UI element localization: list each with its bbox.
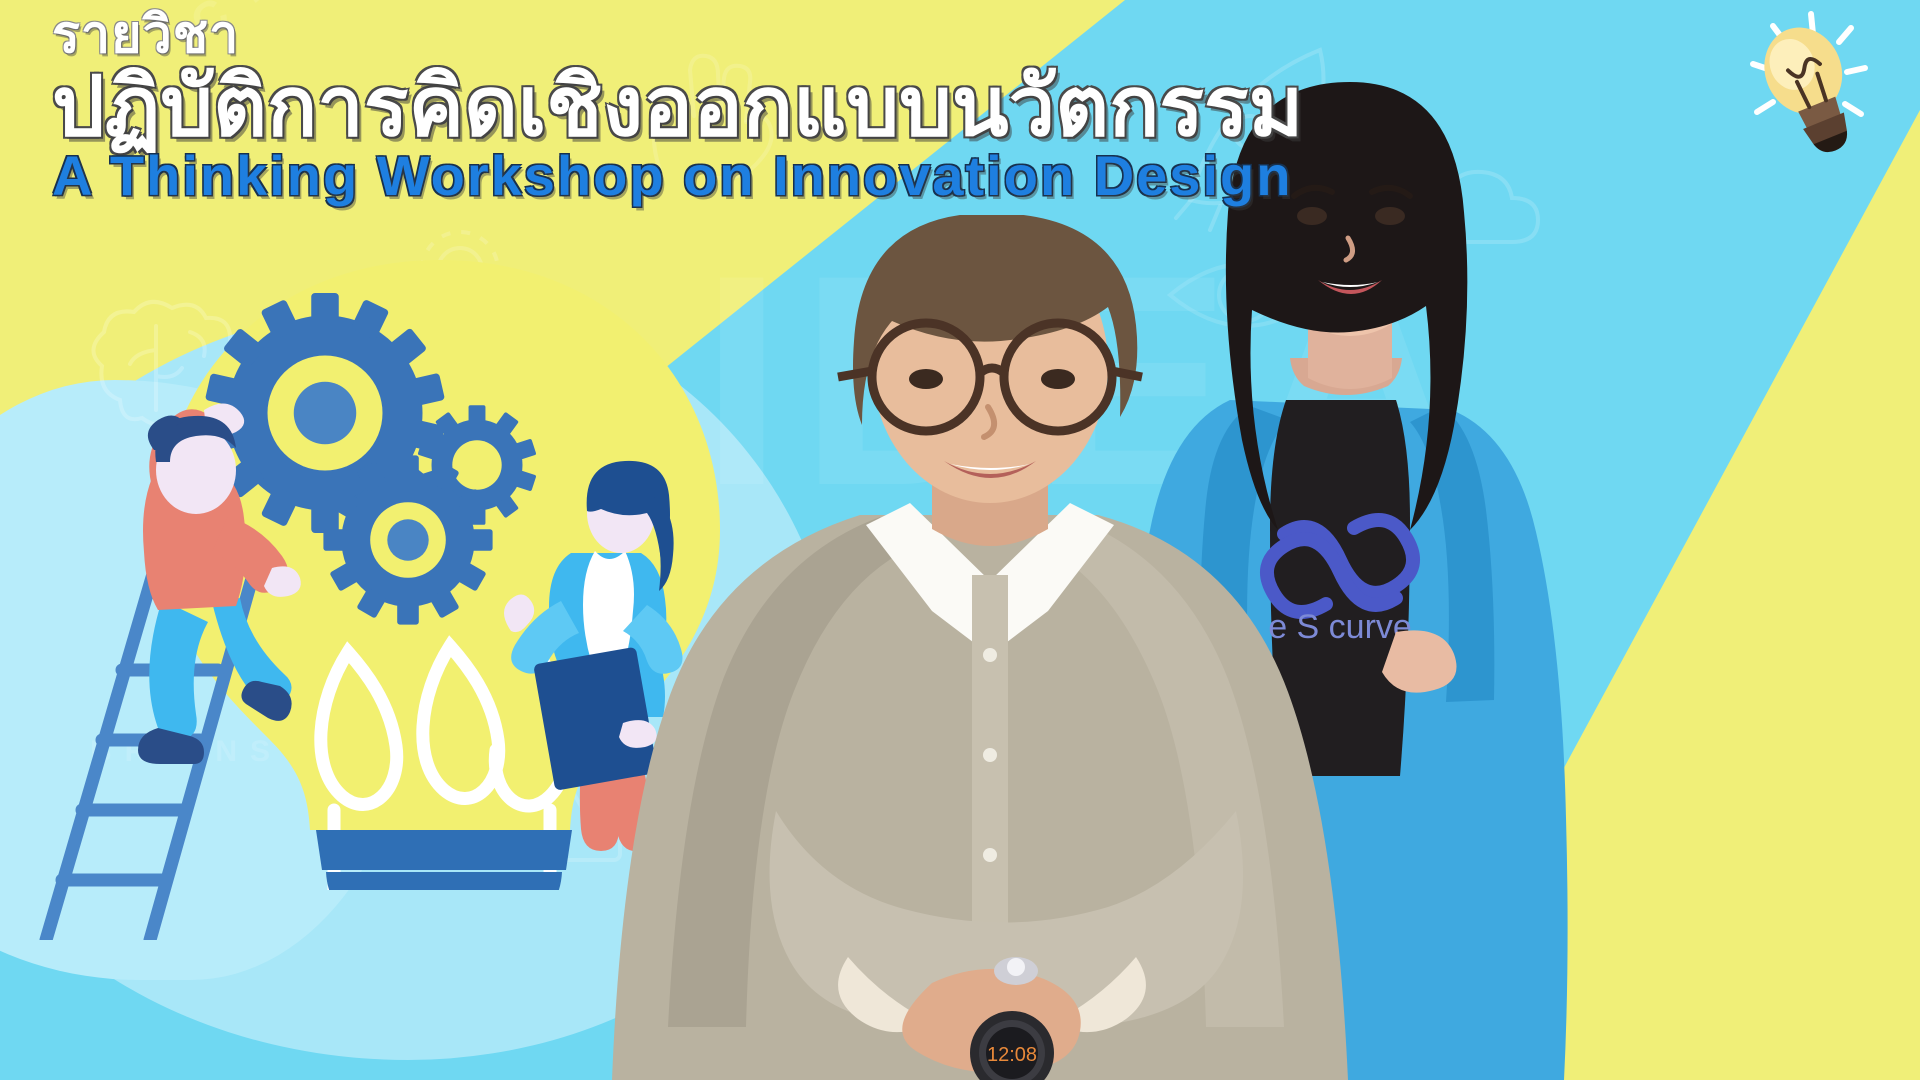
figure-man-on-ladder (100, 330, 380, 790)
banner-canvas: IDEA CREATIVE BRAINSTORM (0, 0, 1920, 1080)
page-title: ปฏิบัติการคิดเชิงออกแบบนวัตกรรม (52, 65, 1302, 150)
lightbulb-icon (1735, 8, 1875, 158)
eye-doodle-icon (1160, 220, 1330, 370)
bulb-doodle-icon (900, 240, 1110, 440)
figure-woman-with-tablet (495, 455, 725, 885)
title-block: รายวิชา ปฏิบัติการคิดเชิงออกแบบนวัตกรรม … (52, 8, 1302, 206)
svg-text:12:08: 12:08 (987, 1044, 1037, 1066)
yellow-wedge-right (1300, 0, 1920, 1080)
cloud-doodle-icon (1420, 150, 1560, 270)
tshirt-text: e S curve (1268, 608, 1412, 646)
eyebrow-label: รายวิชา (52, 8, 1302, 63)
ring-icon (994, 957, 1038, 985)
page-subtitle: A Thinking Workshop on Innovation Design (52, 147, 1302, 206)
watermark-idea-text: IDEA (700, 230, 1481, 530)
smartwatch-icon: 12:08 (970, 1011, 1054, 1080)
